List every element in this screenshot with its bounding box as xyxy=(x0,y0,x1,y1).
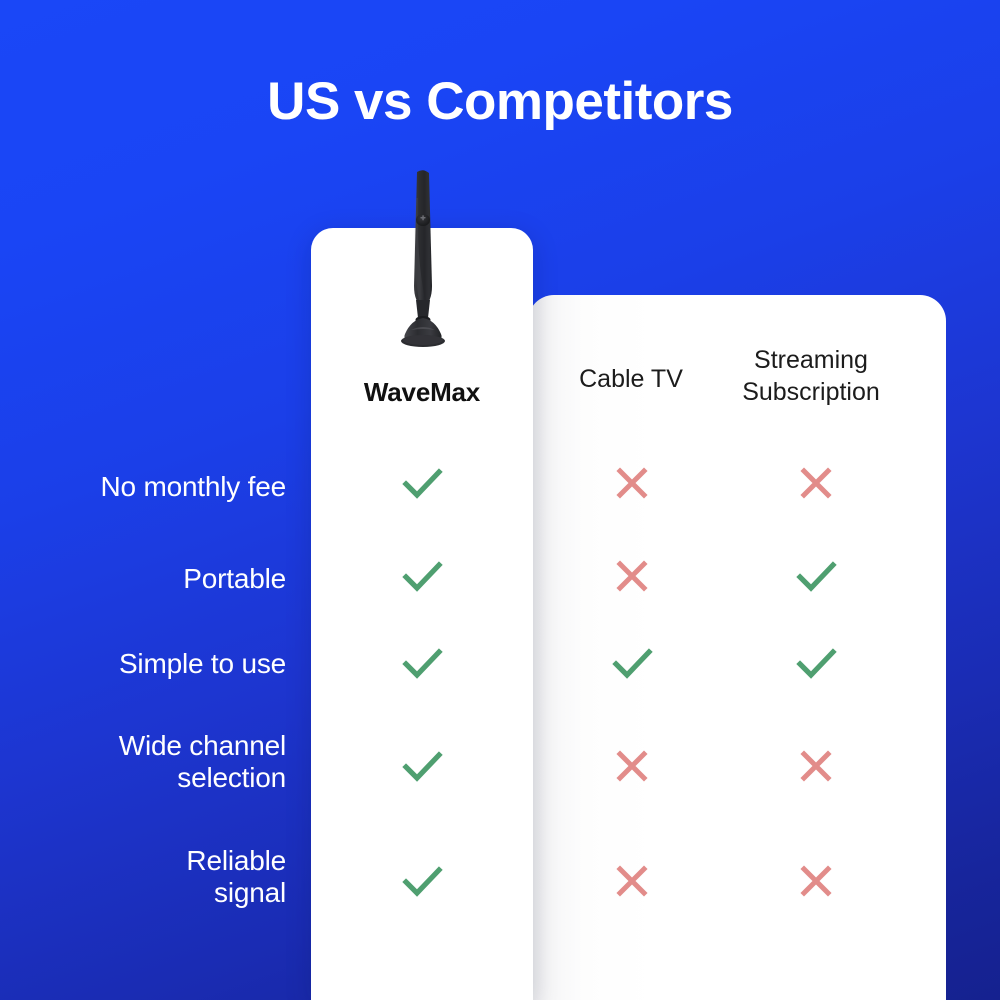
row-label-wide-channel-selection: Wide channel selection xyxy=(0,730,286,795)
check-icon xyxy=(604,635,660,691)
check-icon xyxy=(394,455,450,511)
cross-icon xyxy=(604,548,660,604)
page-title: US vs Competitors xyxy=(0,74,1000,130)
check-icon xyxy=(788,635,844,691)
comparison-infographic: US vs Competitors xyxy=(0,0,1000,1000)
row-label-reliable-signal: Reliable signal xyxy=(0,845,286,910)
check-icon xyxy=(394,635,450,691)
check-icon xyxy=(788,548,844,604)
row-label-no-monthly-fee: No monthly fee xyxy=(0,471,286,503)
row-label-line1: Wide channel xyxy=(0,730,286,762)
row-label-simple-to-use: Simple to use xyxy=(0,648,286,680)
row-label-line2: signal xyxy=(0,877,286,909)
column-header-streaming-line2: Subscription xyxy=(711,376,911,408)
column-header-streaming: Streaming Subscription xyxy=(711,344,911,408)
cross-icon xyxy=(788,738,844,794)
featured-product-name: WaveMax xyxy=(311,377,533,408)
row-label-portable: Portable xyxy=(0,563,286,595)
check-icon xyxy=(394,853,450,909)
row-label-line1: No monthly fee xyxy=(0,471,286,503)
row-label-line1: Reliable xyxy=(0,845,286,877)
column-header-streaming-line1: Streaming xyxy=(711,344,911,376)
check-icon xyxy=(394,548,450,604)
column-header-cable-tv-label: Cable TV xyxy=(579,365,683,393)
cross-icon xyxy=(788,455,844,511)
cross-icon xyxy=(604,738,660,794)
tv-antenna-image xyxy=(373,168,473,368)
cross-icon xyxy=(604,853,660,909)
column-header-cable-tv: Cable TV xyxy=(531,363,731,395)
row-label-line1: Portable xyxy=(0,563,286,595)
row-label-line2: selection xyxy=(0,762,286,794)
row-label-line1: Simple to use xyxy=(0,648,286,680)
cross-icon xyxy=(788,853,844,909)
check-icon xyxy=(394,738,450,794)
cross-icon xyxy=(604,455,660,511)
